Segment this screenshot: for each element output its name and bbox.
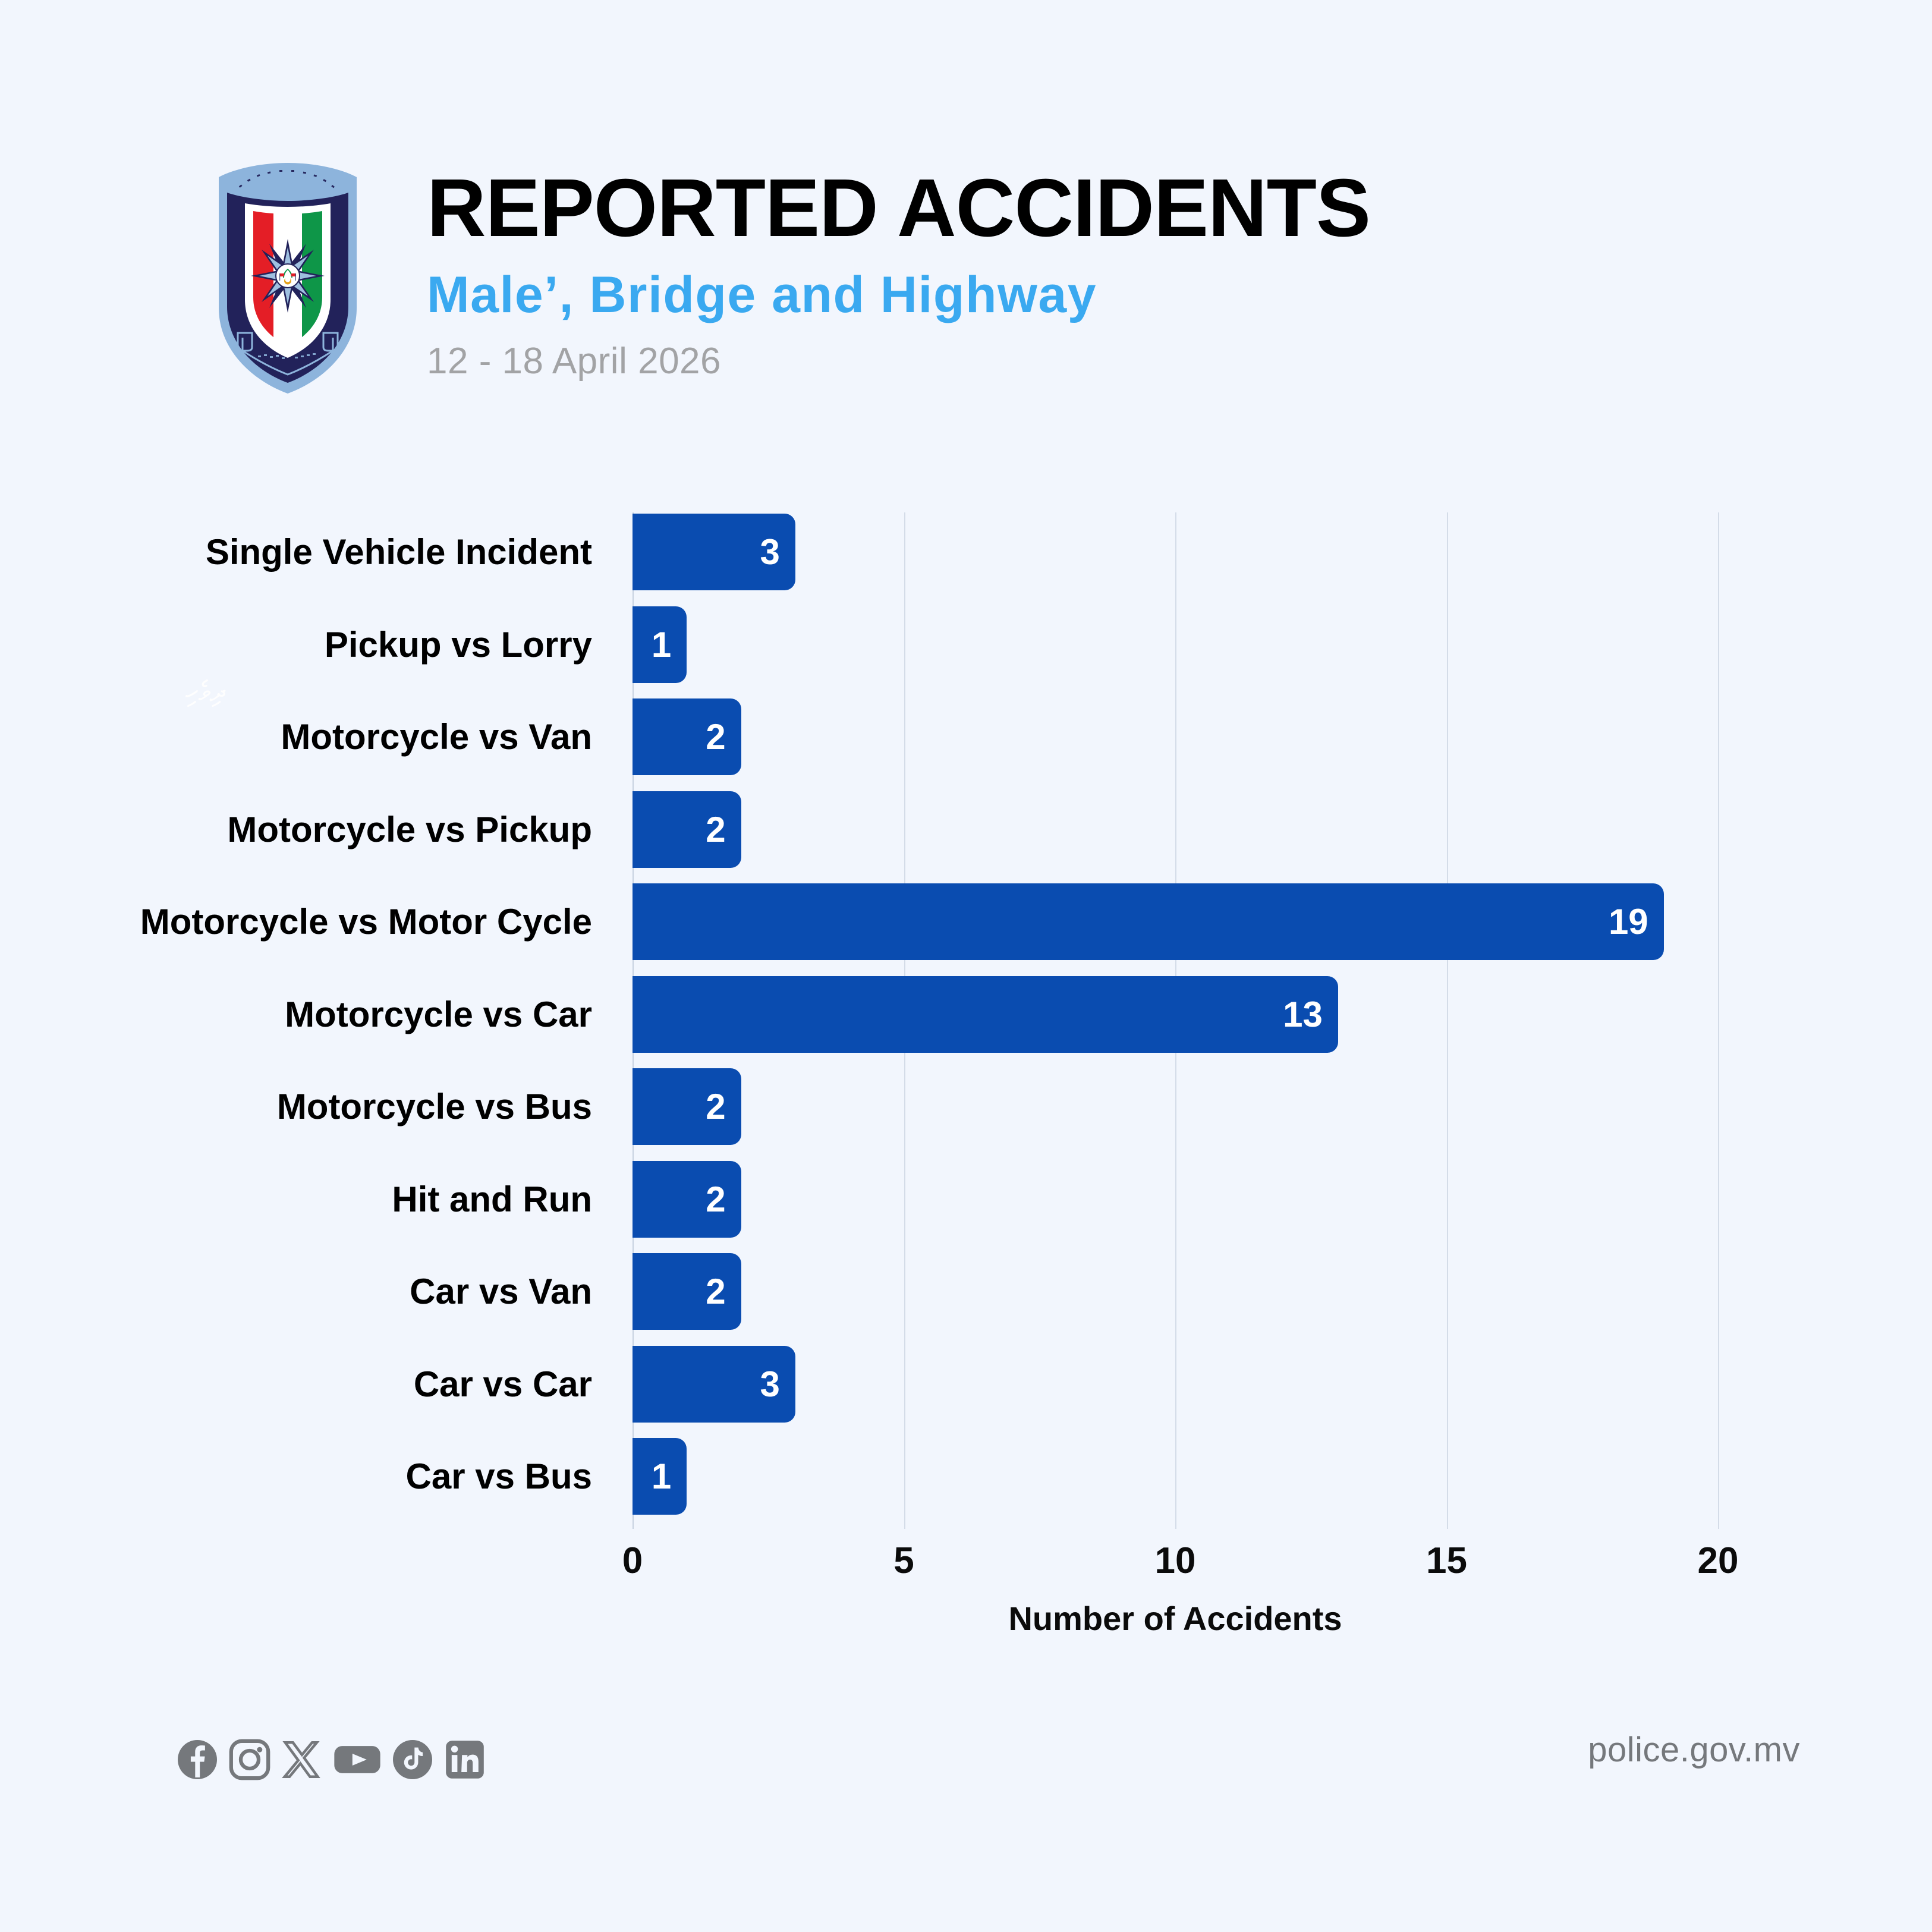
bar-row: 2 — [633, 1253, 741, 1330]
website-url[interactable]: police.gov.mv — [1588, 1730, 1800, 1770]
tiktok-icon[interactable] — [391, 1738, 434, 1781]
bar-row: 2 — [633, 698, 741, 775]
bar-row: 3 — [633, 1346, 795, 1423]
bar-row: 2 — [633, 791, 741, 868]
x-tick-label: 10 — [1155, 1540, 1196, 1582]
category-label: Motorcycle vs Bus — [277, 1068, 592, 1145]
x-tick-label: 20 — [1698, 1540, 1739, 1582]
bar-row: 19 — [633, 883, 1664, 960]
bar-row: 1 — [633, 606, 687, 683]
category-label: Car vs Bus — [406, 1438, 592, 1515]
category-label: Car vs Van — [410, 1253, 592, 1330]
category-label: Motorcycle vs Motor Cycle — [140, 883, 592, 960]
category-label: Motorcycle vs Pickup — [227, 791, 592, 868]
category-label: Motorcycle vs Van — [281, 698, 592, 775]
bar-value-label: 1 — [633, 606, 671, 683]
x-tick-label: 0 — [622, 1540, 643, 1582]
bar-value-label: 2 — [633, 1161, 726, 1238]
bar-value-label: 2 — [633, 1253, 726, 1330]
x-twitter-icon[interactable] — [281, 1738, 323, 1781]
bar-row: 3 — [633, 514, 795, 590]
instagram-icon[interactable] — [228, 1738, 271, 1781]
bar-row: 1 — [633, 1438, 687, 1515]
category-label: Single Vehicle Incident — [206, 514, 592, 590]
bar-value-label: 2 — [633, 698, 726, 775]
bar-value-label: 1 — [633, 1438, 671, 1515]
category-label: Pickup vs Lorry — [325, 606, 592, 683]
chart-x-axis-ticks: 05101520 — [0, 1540, 1932, 1593]
bar-value-label: 13 — [633, 976, 1323, 1053]
chart-bars-layer: 3122191322231 — [633, 512, 1821, 1529]
linkedin-icon[interactable] — [443, 1738, 486, 1781]
reported-accidents-bar-chart: 3122191322231 Single Vehicle IncidentPic… — [0, 0, 1932, 1932]
bar-row: 2 — [633, 1068, 741, 1145]
x-tick-label: 5 — [893, 1540, 914, 1582]
bar-value-label: 19 — [633, 883, 1648, 960]
bar-value-label: 2 — [633, 1068, 726, 1145]
bar-row: 13 — [633, 976, 1338, 1053]
category-label: Hit and Run — [392, 1161, 592, 1238]
x-tick-label: 15 — [1426, 1540, 1467, 1582]
youtube-icon[interactable] — [333, 1738, 382, 1781]
social-media-links — [176, 1738, 486, 1781]
chart-category-labels: Single Vehicle IncidentPickup vs LorryMo… — [0, 512, 612, 1529]
facebook-icon[interactable] — [176, 1738, 219, 1781]
category-label: Car vs Car — [414, 1346, 592, 1423]
category-label: Motorcycle vs Car — [285, 976, 592, 1053]
bar-value-label: 3 — [633, 1346, 780, 1423]
footer: police.gov.mv — [0, 1724, 1932, 1843]
bar-value-label: 3 — [633, 514, 780, 590]
bar-row: 2 — [633, 1161, 741, 1238]
chart-x-axis-label: Number of Accidents — [633, 1599, 1718, 1638]
bar-value-label: 2 — [633, 791, 726, 868]
